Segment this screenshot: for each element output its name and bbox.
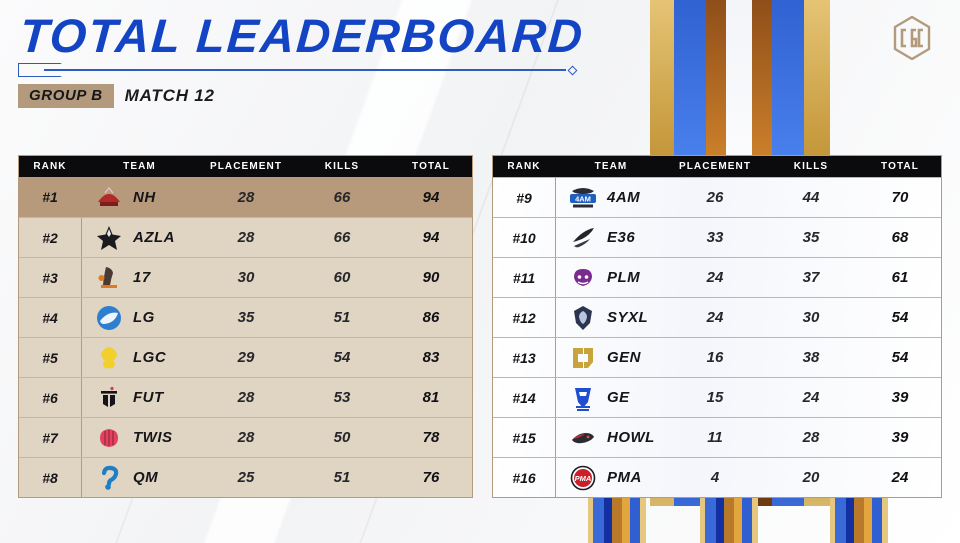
cell-team: HOWL bbox=[555, 418, 667, 457]
table-row[interactable]: #12SYXL243054 bbox=[493, 297, 941, 337]
cell-placement: 28 bbox=[198, 189, 294, 206]
ge-logo bbox=[568, 383, 598, 413]
cell-rank: #4 bbox=[19, 310, 81, 326]
4am-logo: 4AM bbox=[568, 183, 598, 213]
team-name: PMA bbox=[607, 469, 642, 486]
column-header-kills: KILLS bbox=[294, 161, 390, 172]
cell-kills: 54 bbox=[294, 349, 390, 366]
cell-rank: #1 bbox=[19, 189, 81, 205]
cell-total: 78 bbox=[390, 429, 472, 446]
cell-total: 54 bbox=[859, 309, 941, 326]
cell-team: E36 bbox=[555, 218, 667, 257]
cell-kills: 20 bbox=[763, 469, 859, 486]
cell-placement: 11 bbox=[667, 429, 763, 446]
table-row[interactable]: #4LG355186 bbox=[19, 297, 472, 337]
column-header-total: TOTAL bbox=[859, 161, 941, 172]
table-row[interactable]: #7TWIS285078 bbox=[19, 417, 472, 457]
cell-kills: 51 bbox=[294, 469, 390, 486]
svg-text:4AM: 4AM bbox=[575, 194, 591, 203]
cell-total: 54 bbox=[859, 349, 941, 366]
cell-placement: 24 bbox=[667, 309, 763, 326]
plm-logo bbox=[568, 263, 598, 293]
cell-rank: #2 bbox=[19, 230, 81, 246]
cell-placement: 4 bbox=[667, 469, 763, 486]
column-header-team: TEAM bbox=[555, 161, 667, 172]
cell-total: 94 bbox=[390, 189, 472, 206]
cell-placement: 15 bbox=[667, 389, 763, 406]
cell-placement: 28 bbox=[198, 229, 294, 246]
cell-team: SYXL bbox=[555, 298, 667, 337]
svg-text:PMA: PMA bbox=[575, 474, 592, 483]
team-name: 17 bbox=[133, 269, 151, 286]
cell-placement: 33 bbox=[667, 229, 763, 246]
cell-team: GEN bbox=[555, 338, 667, 377]
team-name: HOWL bbox=[607, 429, 655, 446]
cell-rank: #11 bbox=[493, 270, 555, 286]
qm-logo bbox=[94, 463, 124, 493]
cell-team: FUT bbox=[81, 378, 198, 417]
leaderboard-table-right: RANK TEAM PLACEMENT KILLS TOTAL #94AM4AM… bbox=[492, 155, 942, 498]
table-row[interactable]: #5LGC295483 bbox=[19, 337, 472, 377]
table-header-row: RANK TEAM PLACEMENT KILLS TOTAL bbox=[493, 156, 941, 177]
match-label: MATCH 12 bbox=[125, 86, 215, 106]
cell-team: LG bbox=[81, 298, 198, 337]
cell-total: 70 bbox=[859, 189, 941, 206]
cell-kills: 66 bbox=[294, 229, 390, 246]
team-name: 4AM bbox=[607, 189, 640, 206]
cell-total: 24 bbox=[859, 469, 941, 486]
column-header-placement: PLACEMENT bbox=[667, 161, 763, 172]
team-name: GEN bbox=[607, 349, 641, 366]
azla-logo bbox=[94, 223, 124, 253]
table-row[interactable]: #13GEN163854 bbox=[493, 337, 941, 377]
table-body-right: #94AM4AM264470#10E36333568#11PLM243761#1… bbox=[493, 177, 941, 497]
table-row[interactable]: #317306090 bbox=[19, 257, 472, 297]
team-name: TWIS bbox=[133, 429, 173, 446]
cell-team: NH bbox=[81, 177, 198, 217]
cell-placement: 25 bbox=[198, 469, 294, 486]
column-header-rank: RANK bbox=[493, 161, 555, 172]
team-name: PLM bbox=[607, 269, 640, 286]
table-row[interactable]: #10E36333568 bbox=[493, 217, 941, 257]
cell-placement: 24 bbox=[667, 269, 763, 286]
cell-placement: 30 bbox=[198, 269, 294, 286]
cell-rank: #3 bbox=[19, 270, 81, 286]
cell-kills: 60 bbox=[294, 269, 390, 286]
team-name: LGC bbox=[133, 349, 166, 366]
table-row[interactable]: #11PLM243761 bbox=[493, 257, 941, 297]
cell-kills: 24 bbox=[763, 389, 859, 406]
column-header-team: TEAM bbox=[81, 161, 198, 172]
cell-total: 76 bbox=[390, 469, 472, 486]
cgc-logo bbox=[892, 16, 932, 60]
cell-rank: #13 bbox=[493, 350, 555, 366]
cell-total: 83 bbox=[390, 349, 472, 366]
team-name: NH bbox=[133, 189, 156, 206]
divider-diamond-icon bbox=[568, 65, 578, 75]
cell-team: 4AM4AM bbox=[555, 178, 667, 217]
table-row[interactable]: #1NH286694 bbox=[19, 177, 472, 217]
cell-kills: 37 bbox=[763, 269, 859, 286]
cell-total: 81 bbox=[390, 389, 472, 406]
column-header-kills: KILLS bbox=[763, 161, 859, 172]
cell-placement: 28 bbox=[198, 389, 294, 406]
cell-team: AZLA bbox=[81, 218, 198, 257]
match-meta: GROUP B MATCH 12 bbox=[18, 84, 215, 108]
cell-team: QM bbox=[81, 458, 198, 497]
leaderboard-table-left: RANK TEAM PLACEMENT KILLS TOTAL #1NH2866… bbox=[18, 155, 473, 498]
cell-rank: #12 bbox=[493, 310, 555, 326]
cell-rank: #5 bbox=[19, 350, 81, 366]
cell-total: 86 bbox=[390, 309, 472, 326]
cell-placement: 35 bbox=[198, 309, 294, 326]
page-title: TOTAL LEADERBOARD bbox=[18, 12, 585, 59]
team-name: AZLA bbox=[133, 229, 175, 246]
column-header-placement: PLACEMENT bbox=[198, 161, 294, 172]
cell-kills: 28 bbox=[763, 429, 859, 446]
lgc-logo bbox=[94, 343, 124, 373]
cell-kills: 38 bbox=[763, 349, 859, 366]
twis-logo bbox=[94, 423, 124, 453]
cell-total: 68 bbox=[859, 229, 941, 246]
pma-logo: PMA bbox=[568, 463, 598, 493]
cell-kills: 44 bbox=[763, 189, 859, 206]
cell-total: 94 bbox=[390, 229, 472, 246]
table-row[interactable]: #14GE152439 bbox=[493, 377, 941, 417]
cell-team: 17 bbox=[81, 258, 198, 297]
group-badge: GROUP B bbox=[18, 84, 114, 108]
cell-team: PLM bbox=[555, 258, 667, 297]
cell-placement: 16 bbox=[667, 349, 763, 366]
cell-team: LGC bbox=[81, 338, 198, 377]
cell-placement: 29 bbox=[198, 349, 294, 366]
table-header-row: RANK TEAM PLACEMENT KILLS TOTAL bbox=[19, 156, 472, 177]
cell-rank: #7 bbox=[19, 430, 81, 446]
cell-team: TWIS bbox=[81, 418, 198, 457]
team-name: QM bbox=[133, 469, 158, 486]
team-name: SYXL bbox=[607, 309, 648, 326]
gen-logo bbox=[568, 343, 598, 373]
table-row[interactable]: #6FUT285381 bbox=[19, 377, 472, 417]
divider-bar bbox=[44, 69, 566, 71]
cell-rank: #9 bbox=[493, 190, 555, 206]
table-row[interactable]: #2AZLA286694 bbox=[19, 217, 472, 257]
cell-placement: 28 bbox=[198, 429, 294, 446]
table-row[interactable]: #15HOWL112839 bbox=[493, 417, 941, 457]
cell-rank: #8 bbox=[19, 470, 81, 486]
team-name: FUT bbox=[133, 389, 164, 406]
nh-logo bbox=[94, 182, 124, 212]
cell-total: 90 bbox=[390, 269, 472, 286]
cell-kills: 66 bbox=[294, 189, 390, 206]
17-gaming-logo bbox=[94, 263, 124, 293]
cell-team: GE bbox=[555, 378, 667, 417]
e36-logo bbox=[568, 223, 598, 253]
table-row[interactable]: #16PMAPMA42024 bbox=[493, 457, 941, 497]
table-row[interactable]: #94AM4AM264470 bbox=[493, 177, 941, 217]
cell-rank: #15 bbox=[493, 430, 555, 446]
cell-kills: 53 bbox=[294, 389, 390, 406]
cell-team: PMAPMA bbox=[555, 458, 667, 497]
howl-logo bbox=[568, 423, 598, 453]
cell-total: 61 bbox=[859, 269, 941, 286]
cell-kills: 30 bbox=[763, 309, 859, 326]
cell-kills: 35 bbox=[763, 229, 859, 246]
cell-total: 39 bbox=[859, 429, 941, 446]
title-divider bbox=[18, 63, 578, 77]
syxl-logo bbox=[568, 303, 598, 333]
table-body-left: #1NH286694#2AZLA286694#317306090#4LG3551… bbox=[19, 177, 472, 497]
team-name: LG bbox=[133, 309, 155, 326]
cell-rank: #16 bbox=[493, 470, 555, 486]
cell-rank: #10 bbox=[493, 230, 555, 246]
column-header-rank: RANK bbox=[19, 161, 81, 172]
cell-placement: 26 bbox=[667, 189, 763, 206]
fut-logo bbox=[94, 383, 124, 413]
cell-rank: #14 bbox=[493, 390, 555, 406]
cell-kills: 51 bbox=[294, 309, 390, 326]
column-header-total: TOTAL bbox=[390, 161, 472, 172]
team-name: GE bbox=[607, 389, 630, 406]
team-name: E36 bbox=[607, 229, 635, 246]
lg-logo bbox=[94, 303, 124, 333]
cell-total: 39 bbox=[859, 389, 941, 406]
cell-rank: #6 bbox=[19, 390, 81, 406]
table-row[interactable]: #8QM255176 bbox=[19, 457, 472, 497]
cell-kills: 50 bbox=[294, 429, 390, 446]
